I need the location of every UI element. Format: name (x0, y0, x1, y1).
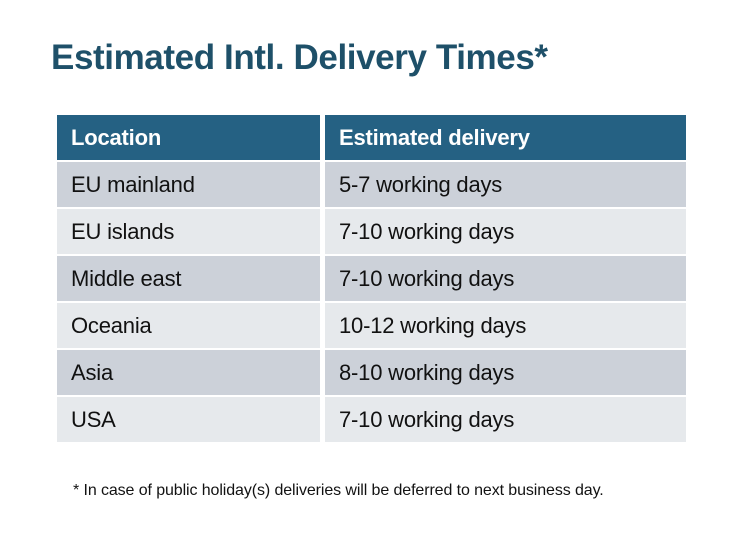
table-row: Middle east 7-10 working days (57, 256, 686, 301)
table-row: EU mainland 5-7 working days (57, 162, 686, 207)
cell-location: Oceania (57, 303, 320, 348)
table-header-row: Location Estimated delivery (57, 115, 686, 160)
cell-delivery: 8-10 working days (325, 350, 686, 395)
table-row: Asia 8-10 working days (57, 350, 686, 395)
table-row: EU islands 7-10 working days (57, 209, 686, 254)
table-row: Oceania 10-12 working days (57, 303, 686, 348)
column-header-estimated-delivery: Estimated delivery (325, 115, 686, 160)
footnote-text: * In case of public holiday(s) deliverie… (73, 482, 604, 500)
page-title: Estimated Intl. Delivery Times* (51, 36, 548, 80)
column-header-location: Location (57, 115, 320, 160)
cell-delivery: 7-10 working days (325, 256, 686, 301)
table-header: Location Estimated delivery (57, 115, 686, 160)
cell-delivery: 7-10 working days (325, 397, 686, 442)
table-row: USA 7-10 working days (57, 397, 686, 442)
delivery-times-document: Estimated Intl. Delivery Times* Location… (0, 0, 745, 536)
cell-location: Asia (57, 350, 320, 395)
cell-location: EU islands (57, 209, 320, 254)
cell-delivery: 5-7 working days (325, 162, 686, 207)
cell-location: Middle east (57, 256, 320, 301)
table-body: EU mainland 5-7 working days EU islands … (57, 162, 686, 442)
cell-location: USA (57, 397, 320, 442)
cell-location: EU mainland (57, 162, 320, 207)
estimated-delivery-table: Location Estimated delivery EU mainland … (52, 113, 691, 444)
cell-delivery: 10-12 working days (325, 303, 686, 348)
cell-delivery: 7-10 working days (325, 209, 686, 254)
